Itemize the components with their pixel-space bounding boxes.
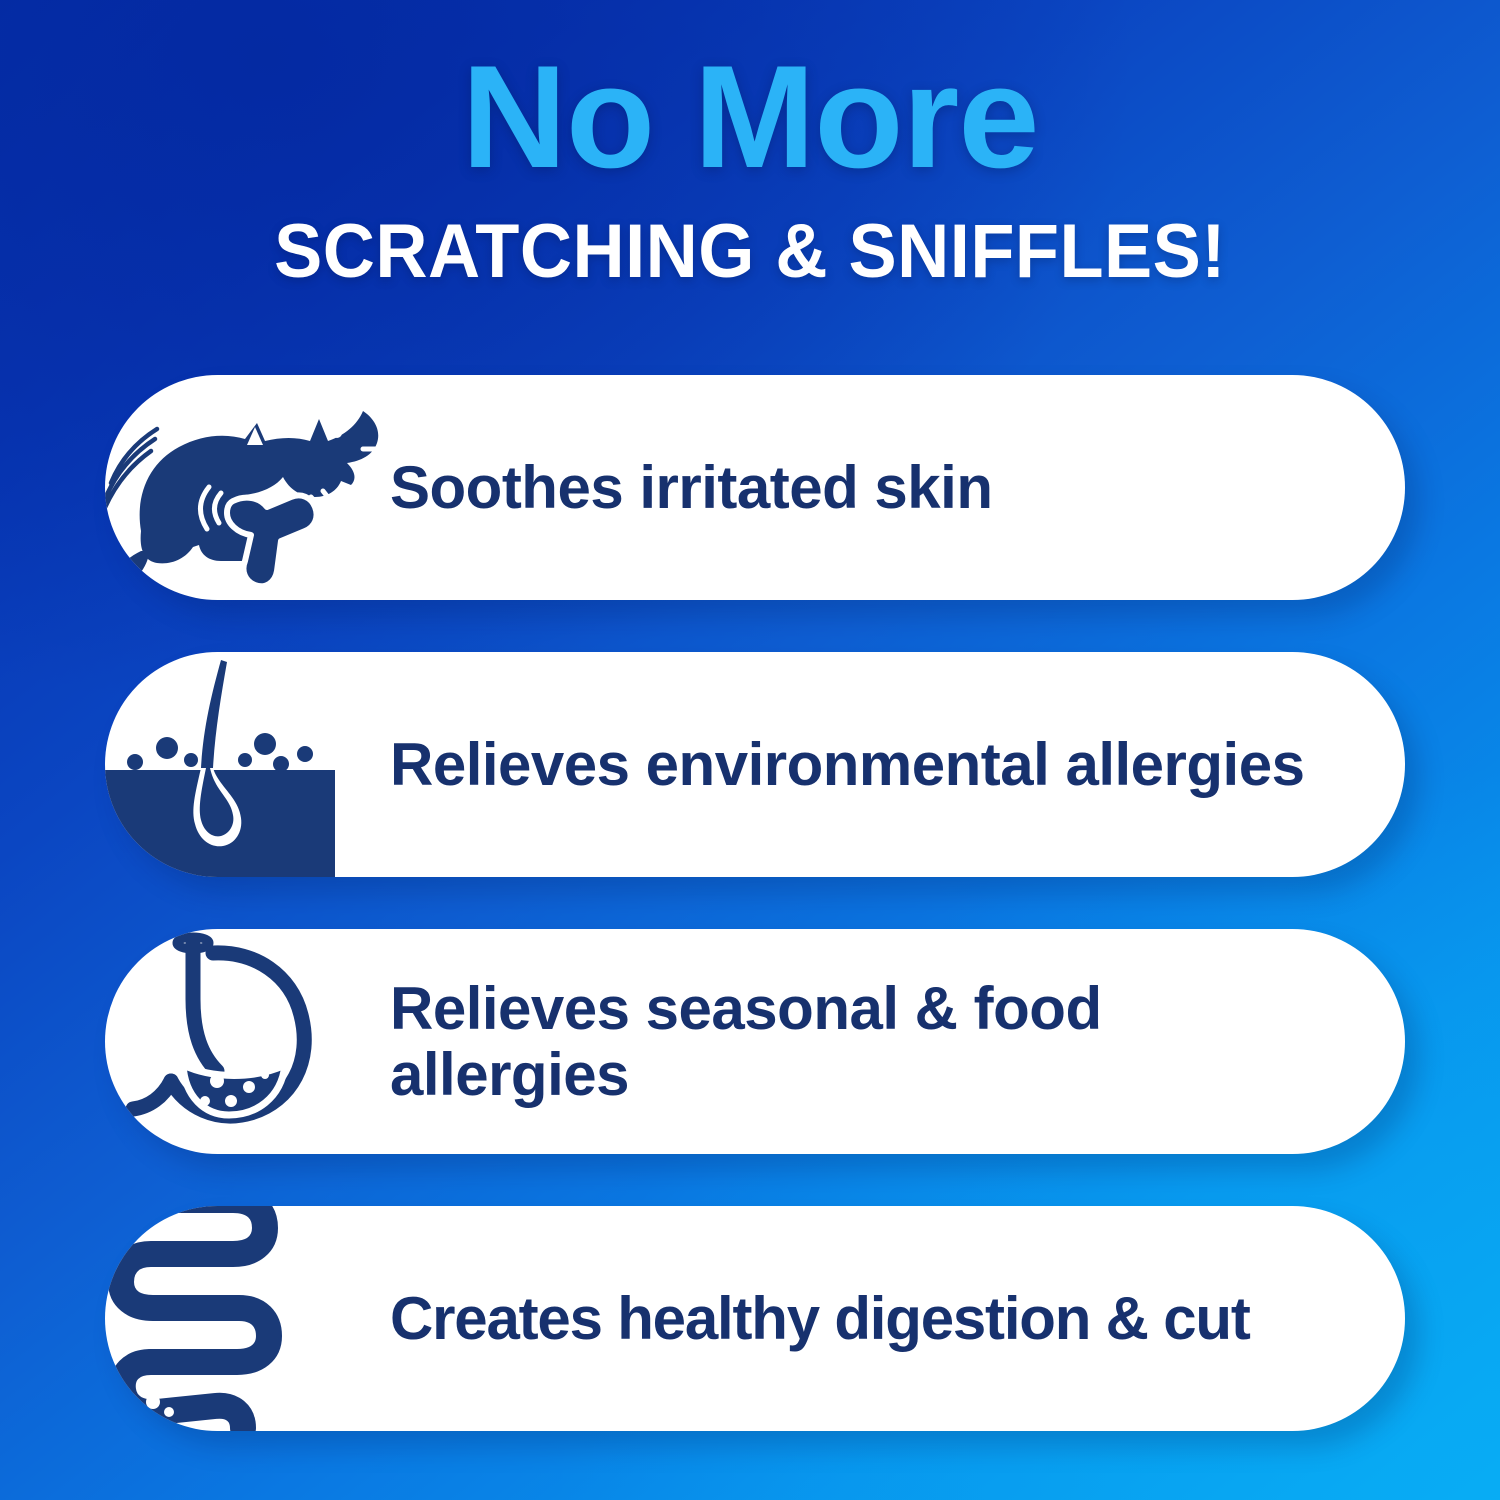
page-title: No More [0,44,1500,190]
page-subtitle: SCRATCHING & SNIFFLES! [38,212,1463,292]
list-item: Soothes irritated skin [105,375,1405,600]
list-item-label: Relieves seasonal & food allergies [390,976,1400,1108]
header-block: No More SCRATCHING & SNIFFLES! [0,0,1500,292]
list-item-label: Soothes irritated skin [390,455,1036,521]
list-item: Relieves seasonal & food allergies [105,929,1405,1154]
benefit-list: Soothes irritated skin [105,375,1405,1483]
list-item: Relieves environmental allergies [105,652,1405,877]
promo-graphic: No More SCRATCHING & SNIFFLES! [0,0,1500,1500]
list-item-label: Relieves environmental allergies [390,732,1348,798]
list-item-label: Creates healthy digestion & cut [390,1286,1294,1352]
list-item: Creates healthy digestion & cut [105,1206,1405,1431]
